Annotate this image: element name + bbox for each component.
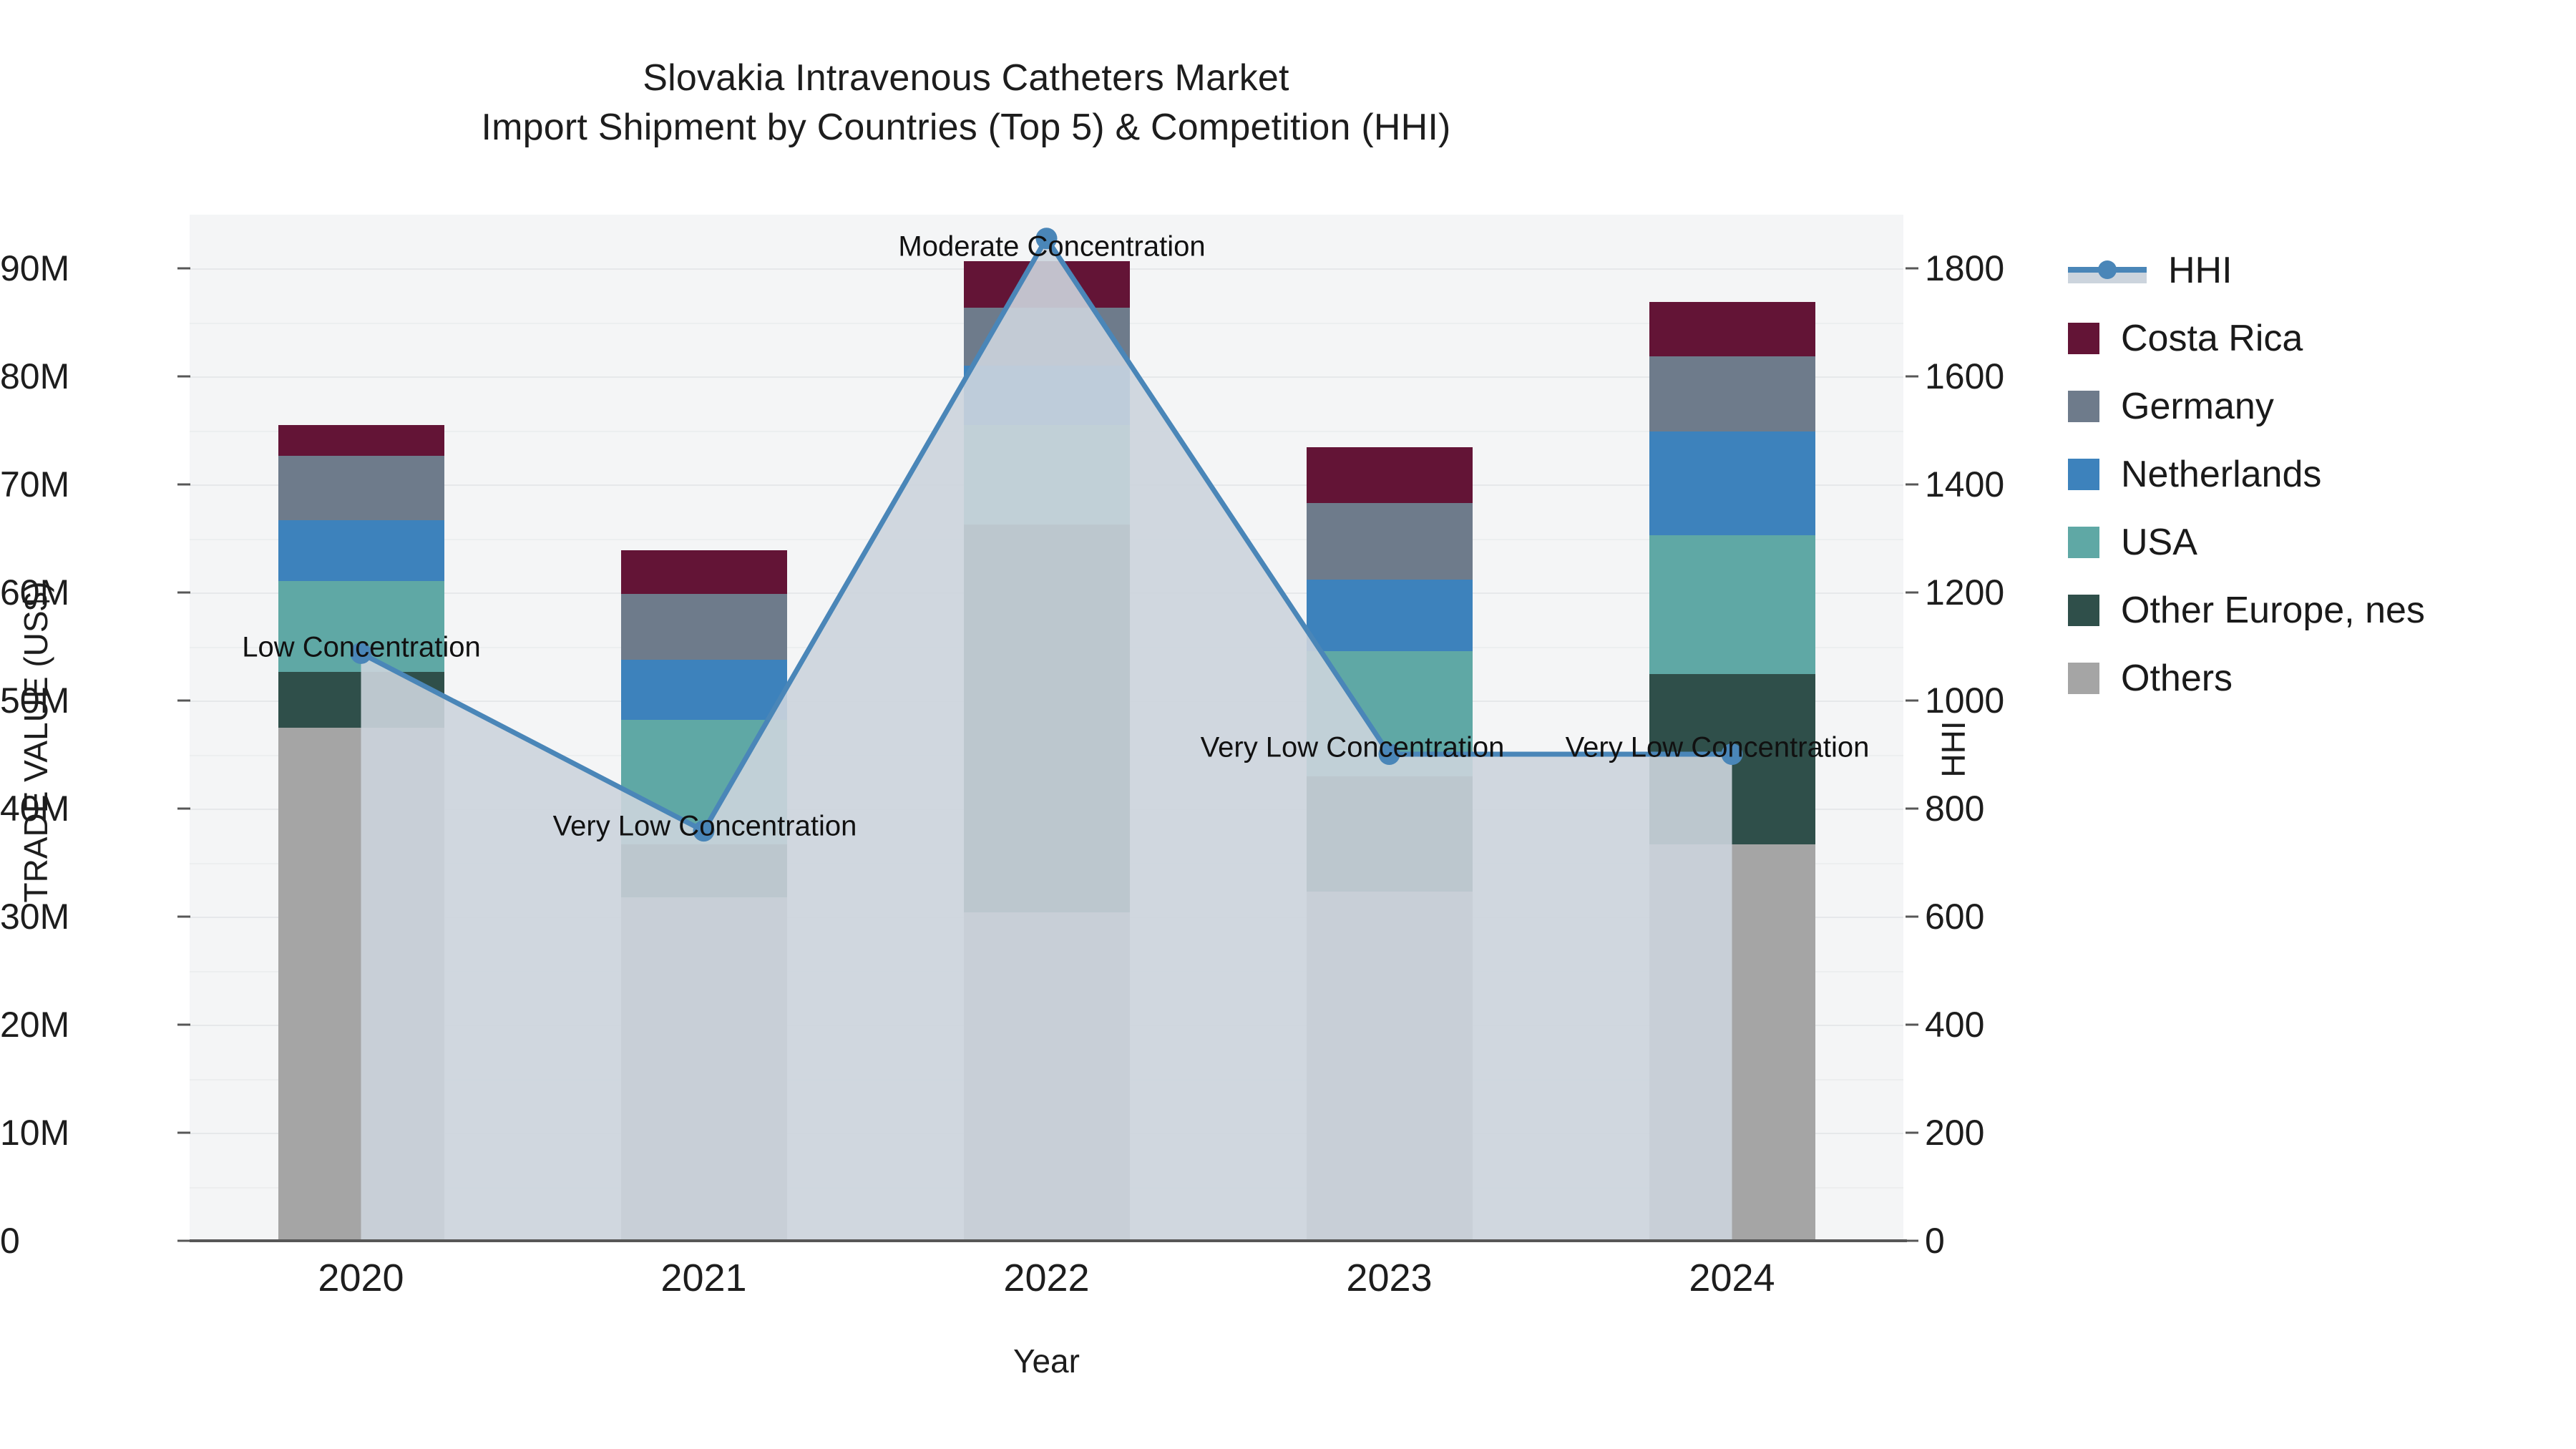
legend-swatch-icon bbox=[2068, 391, 2099, 422]
x-axis-label: Year bbox=[190, 1342, 1903, 1380]
legend-item-label: Other Europe, nes bbox=[2121, 592, 2425, 629]
bar-segment-netherlands[interactable] bbox=[1649, 431, 1815, 535]
x-axis-tick-label-2024: 2024 bbox=[1689, 1256, 1775, 1300]
x-axis-tick-label-2023: 2023 bbox=[1346, 1256, 1432, 1300]
bar-segment-costa-rica[interactable] bbox=[964, 261, 1130, 308]
bar-group-2021[interactable] bbox=[621, 550, 787, 1241]
x-axis-tick-label-2022: 2022 bbox=[1003, 1256, 1089, 1300]
bar-segment-others[interactable] bbox=[1307, 892, 1473, 1241]
y-axis-left-tick-mark bbox=[177, 592, 190, 594]
bar-segment-germany[interactable] bbox=[278, 456, 444, 521]
y-axis-left-tick-mark bbox=[177, 700, 190, 702]
y-axis-left-tick-label: 0 bbox=[0, 1220, 20, 1262]
annotation-2024: Very Low Concentration bbox=[1566, 732, 1870, 764]
y-axis-left-tick-mark bbox=[177, 916, 190, 918]
bar-segment-germany[interactable] bbox=[621, 594, 787, 660]
legend-swatch-icon bbox=[2068, 459, 2099, 490]
bar-segment-costa-rica[interactable] bbox=[278, 425, 444, 455]
y-axis-right-tick-mark bbox=[1906, 1240, 1918, 1242]
bar-segment-netherlands[interactable] bbox=[621, 660, 787, 721]
legend: HHICosta RicaGermanyNetherlandsUSAOther … bbox=[2068, 236, 2569, 712]
bar-group-2023[interactable] bbox=[1307, 447, 1473, 1241]
y-axis-right-tick-label: 0 bbox=[1925, 1220, 1945, 1262]
bar-segment-netherlands[interactable] bbox=[964, 366, 1130, 425]
chart-title-line-2: Import Shipment by Countries (Top 5) & C… bbox=[0, 103, 1932, 152]
x-axis-tick-label-2020: 2020 bbox=[318, 1256, 404, 1300]
legend-item-other-europe-nes[interactable]: Other Europe, nes bbox=[2068, 576, 2569, 644]
legend-swatch-icon bbox=[2068, 595, 2099, 626]
y-axis-right-tick-mark bbox=[1906, 808, 1918, 810]
y-axis-right-tick-mark bbox=[1906, 700, 1918, 702]
y-axis-right-tick-label: 400 bbox=[1925, 1004, 1984, 1045]
bar-segment-germany[interactable] bbox=[1649, 356, 1815, 432]
legend-swatch-icon bbox=[2068, 323, 2099, 354]
y-axis-right-tick-label: 200 bbox=[1925, 1112, 1984, 1153]
y-axis-right-tick-mark bbox=[1906, 376, 1918, 378]
x-axis-line bbox=[190, 1239, 1907, 1242]
y-axis-right-tick-mark bbox=[1906, 1132, 1918, 1134]
y-axis-right-label: HHI bbox=[1934, 606, 1973, 892]
bar-segment-other-europe-nes[interactable] bbox=[964, 525, 1130, 912]
legend-item-label: USA bbox=[2121, 524, 2197, 561]
legend-item-label: Costa Rica bbox=[2121, 320, 2303, 357]
chart-title-line-1: Slovakia Intravenous Catheters Market bbox=[0, 54, 1932, 103]
y-axis-right-tick-mark bbox=[1906, 916, 1918, 918]
annotation-2021: Very Low Concentration bbox=[553, 811, 857, 843]
y-axis-right-tick-label: 600 bbox=[1925, 896, 1984, 937]
bar-segment-others[interactable] bbox=[621, 897, 787, 1241]
bar-group-2022[interactable] bbox=[964, 261, 1130, 1241]
bar-segment-other-europe-nes[interactable] bbox=[278, 672, 444, 728]
y-axis-left-tick-label: 10M bbox=[0, 1112, 69, 1153]
legend-item-usa[interactable]: USA bbox=[2068, 508, 2569, 576]
y-axis-left-tick-mark bbox=[177, 1024, 190, 1026]
bar-segment-other-europe-nes[interactable] bbox=[1307, 776, 1473, 892]
bar-segment-usa[interactable] bbox=[964, 425, 1130, 525]
y-axis-right-tick-label: 1600 bbox=[1925, 356, 2004, 397]
bar-segment-costa-rica[interactable] bbox=[621, 550, 787, 593]
plot-area bbox=[190, 215, 1903, 1241]
bar-group-2024[interactable] bbox=[1649, 302, 1815, 1241]
bar-segment-netherlands[interactable] bbox=[278, 520, 444, 581]
legend-item-label: Netherlands bbox=[2121, 456, 2321, 493]
bar-segment-netherlands[interactable] bbox=[1307, 580, 1473, 651]
y-axis-left-tick-mark bbox=[177, 1132, 190, 1134]
y-axis-left-tick-mark bbox=[177, 376, 190, 378]
bar-segment-usa[interactable] bbox=[1649, 535, 1815, 673]
legend-item-label: Others bbox=[2121, 660, 2233, 697]
y-axis-right-tick-mark bbox=[1906, 1024, 1918, 1026]
chart-canvas: Slovakia Intravenous Catheters Market Im… bbox=[0, 0, 2576, 1449]
legend-item-label: HHI bbox=[2168, 252, 2233, 289]
x-axis-tick-label-2021: 2021 bbox=[660, 1256, 746, 1300]
chart-title: Slovakia Intravenous Catheters Market Im… bbox=[0, 54, 1932, 152]
legend-item-hhi[interactable]: HHI bbox=[2068, 236, 2569, 304]
y-axis-right-tick-label: 1800 bbox=[1925, 248, 2004, 289]
annotation-2023: Very Low Concentration bbox=[1201, 732, 1505, 764]
legend-line-marker-icon bbox=[2068, 255, 2147, 286]
y-axis-right-tick-label: 1400 bbox=[1925, 464, 2004, 505]
legend-item-label: Germany bbox=[2121, 388, 2274, 425]
bar-segment-others[interactable] bbox=[964, 912, 1130, 1241]
y-axis-left-tick-label: 20M bbox=[0, 1004, 69, 1045]
legend-item-others[interactable]: Others bbox=[2068, 644, 2569, 712]
y-axis-left-tick-label: 90M bbox=[0, 248, 69, 289]
y-axis-left-tick-mark bbox=[177, 268, 190, 270]
y-axis-left-tick-mark bbox=[177, 808, 190, 810]
y-axis-left-tick-label: 80M bbox=[0, 356, 69, 397]
bar-segment-others[interactable] bbox=[278, 728, 444, 1241]
bar-group-2020[interactable] bbox=[278, 425, 444, 1241]
bar-segment-other-europe-nes[interactable] bbox=[621, 844, 787, 897]
bar-segment-costa-rica[interactable] bbox=[1649, 302, 1815, 356]
bar-segment-germany[interactable] bbox=[1307, 503, 1473, 580]
y-axis-right-tick-mark bbox=[1906, 484, 1918, 486]
annotation-2022: Moderate Concentration bbox=[898, 231, 1205, 263]
y-axis-right-tick-mark bbox=[1906, 592, 1918, 594]
legend-swatch-icon bbox=[2068, 527, 2099, 558]
y-axis-left-label: TRADE VALUE (US$) bbox=[16, 492, 55, 992]
legend-item-netherlands[interactable]: Netherlands bbox=[2068, 440, 2569, 508]
legend-item-costa-rica[interactable]: Costa Rica bbox=[2068, 304, 2569, 372]
legend-swatch-icon bbox=[2068, 663, 2099, 694]
bar-segment-costa-rica[interactable] bbox=[1307, 447, 1473, 503]
bar-segment-germany[interactable] bbox=[964, 308, 1130, 366]
bar-segment-others[interactable] bbox=[1649, 844, 1815, 1241]
annotation-2020: Low Concentration bbox=[242, 632, 481, 664]
legend-item-germany[interactable]: Germany bbox=[2068, 372, 2569, 440]
y-axis-left-tick-mark bbox=[177, 484, 190, 486]
y-axis-right-tick-mark bbox=[1906, 268, 1918, 270]
y-axis-left-tick-mark bbox=[177, 1240, 190, 1242]
